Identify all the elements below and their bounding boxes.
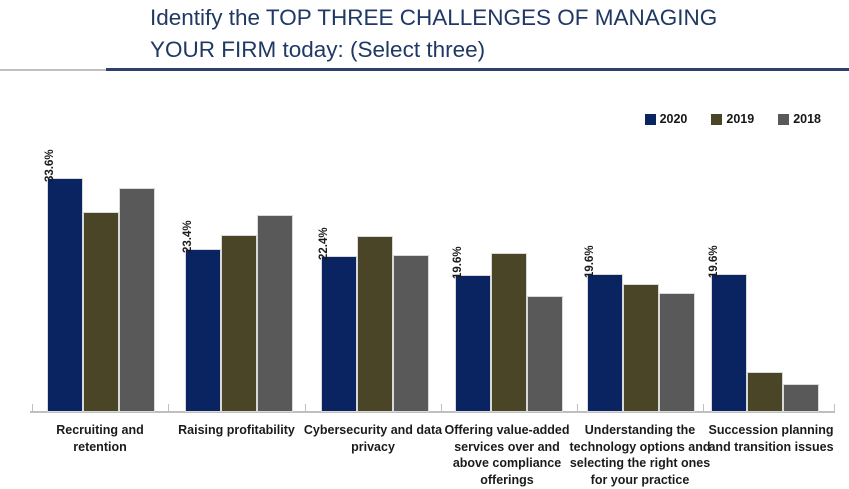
bar-2019-cybersecurity-and-data-privacy[interactable] [357, 236, 393, 412]
bar-2019-succession-planning-and-transition-issues[interactable] [747, 372, 783, 412]
bar-value-label: 23.4% [182, 220, 194, 253]
bar-2020-succession-planning-and-transition-issues[interactable] [711, 274, 747, 412]
bar-value-label: 33.6% [44, 149, 56, 182]
x-axis-tick [577, 404, 578, 412]
x-axis-category-label: Raising profitability [168, 422, 305, 439]
bar-2018-cybersecurity-and-data-privacy[interactable] [393, 255, 429, 412]
x-axis-category-label: Succession planning and transition issue… [700, 422, 842, 455]
bar-2020-raising-profitability[interactable] [185, 249, 221, 412]
bar-2020-understanding-the-technology-options[interactable] [587, 274, 623, 412]
bar-2018-succession-planning-and-transition-issues[interactable] [783, 384, 819, 412]
x-axis-tick [32, 404, 33, 412]
bar-value-label: 19.6% [452, 246, 464, 279]
bar-2020-recruiting-and-retention[interactable] [47, 178, 83, 412]
x-axis-tick [441, 404, 442, 412]
bar-2018-raising-profitability[interactable] [257, 215, 293, 412]
bar-value-label: 19.6% [708, 245, 720, 278]
bar-2018-offering-value-added-services[interactable] [527, 296, 563, 412]
bar-2020-offering-value-added-services[interactable] [455, 275, 491, 412]
bar-value-label: 19.6% [584, 245, 596, 278]
x-axis-tick [834, 404, 835, 412]
bar-value-label: 22.4% [318, 227, 330, 260]
bar-2019-understanding-the-technology-options[interactable] [623, 284, 659, 412]
x-axis-tick [703, 404, 704, 412]
bar-2019-offering-value-added-services[interactable] [491, 253, 527, 412]
x-axis-tick [305, 404, 306, 412]
chart-plot-area: 33.6%23.4%22.4%19.6%19.6%19.6%Recruiting… [0, 0, 849, 489]
x-axis-tick [168, 404, 169, 412]
bar-2018-recruiting-and-retention[interactable] [119, 188, 155, 412]
x-axis-category-label: Cybersecurity and data privacy [300, 422, 446, 455]
x-axis-category-label: Recruiting and retention [32, 422, 168, 455]
x-axis-category-label: Understanding the technology options and… [567, 422, 713, 488]
bar-2018-understanding-the-technology-options[interactable] [659, 293, 695, 412]
bar-2020-cybersecurity-and-data-privacy[interactable] [321, 256, 357, 412]
bar-2019-raising-profitability[interactable] [221, 235, 257, 412]
x-axis-category-label: Offering value-added services over and a… [437, 422, 577, 488]
bar-2019-recruiting-and-retention[interactable] [83, 212, 119, 412]
